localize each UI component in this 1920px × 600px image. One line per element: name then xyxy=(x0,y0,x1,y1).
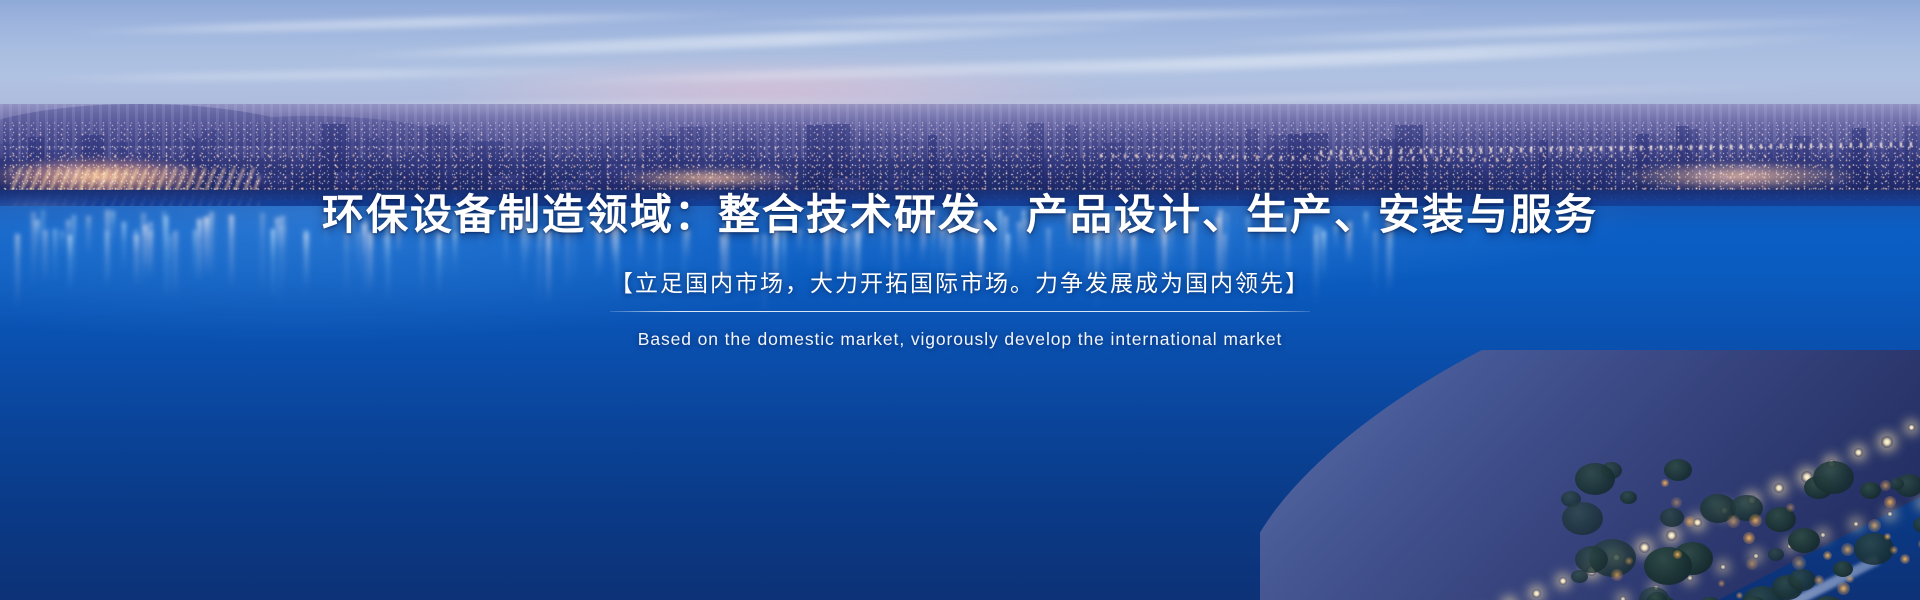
street-lamp xyxy=(1908,424,1915,431)
tree xyxy=(1889,478,1904,490)
street-lamp xyxy=(1620,596,1626,600)
ground-light xyxy=(1837,582,1850,595)
street-lamp xyxy=(1853,521,1859,527)
tree xyxy=(1644,547,1692,585)
ground-light xyxy=(1841,543,1854,556)
ground-light xyxy=(1671,497,1682,508)
tree xyxy=(1664,459,1692,481)
ground-light xyxy=(1749,514,1762,527)
hero-banner: 环保设备制造领域：整合技术研发、产品设计、生产、安装与服务 【立足国内市场，大力… xyxy=(0,0,1920,600)
tree xyxy=(1813,461,1854,494)
tree xyxy=(1788,569,1816,591)
street-lamp xyxy=(1720,564,1726,570)
ground-light xyxy=(1823,551,1832,560)
waterfront-promenade xyxy=(1260,350,1920,600)
street-lamp xyxy=(1887,511,1893,517)
ground-light xyxy=(1846,575,1854,583)
tree xyxy=(1575,546,1608,573)
subtitle-divider xyxy=(610,311,1310,312)
street-lamp xyxy=(1559,577,1567,585)
tree xyxy=(1913,517,1920,533)
ground-light xyxy=(1684,516,1695,527)
subtitle-chinese: 【立足国内市场，大力开拓国际市场。力争发展成为国内领先】 xyxy=(610,266,1310,301)
ground-light xyxy=(1746,558,1758,570)
street-lamp xyxy=(1820,532,1826,538)
tree xyxy=(1788,528,1820,553)
ground-light xyxy=(1792,556,1806,570)
tree xyxy=(1768,548,1784,561)
tree xyxy=(1562,502,1603,535)
subtitle-block: 【立足国内市场，大力开拓国际市场。力争发展成为国内领先】 Based on th… xyxy=(606,266,1314,353)
tree xyxy=(1620,491,1637,504)
tree xyxy=(1860,482,1881,499)
ground-light xyxy=(1727,515,1740,528)
ground-light xyxy=(1625,557,1633,565)
street-lamp xyxy=(1854,448,1863,457)
tree xyxy=(1660,508,1684,527)
ground-light xyxy=(1743,532,1755,544)
banner-copy: 环保设备制造领域：整合技术研发、产品设计、生产、安装与服务 【立足国内市场，大力… xyxy=(0,188,1920,353)
street-lamp xyxy=(1774,483,1784,493)
ground-light xyxy=(1718,580,1725,587)
ground-light xyxy=(1884,496,1896,508)
ground-light xyxy=(1736,592,1743,599)
subtitle-english: Based on the domestic market, vigorously… xyxy=(610,326,1310,352)
ground-light xyxy=(1900,554,1910,564)
ground-light xyxy=(1611,569,1623,581)
ground-light xyxy=(1890,546,1898,554)
page-title: 环保设备制造领域：整合技术研发、产品设计、生产、安装与服务 xyxy=(0,188,1920,242)
ground-light xyxy=(1673,550,1682,559)
ground-light xyxy=(1884,533,1891,540)
ground-light xyxy=(1868,519,1881,532)
ground-light xyxy=(1661,479,1669,487)
street-lamp xyxy=(1666,530,1677,541)
street-lamp xyxy=(1639,542,1650,553)
ground-light xyxy=(1880,480,1891,491)
tree xyxy=(1575,463,1615,495)
street-lamp xyxy=(1881,436,1893,448)
ground-light xyxy=(1814,575,1824,585)
street-lamp xyxy=(1532,589,1541,598)
ground-light xyxy=(1786,503,1795,512)
